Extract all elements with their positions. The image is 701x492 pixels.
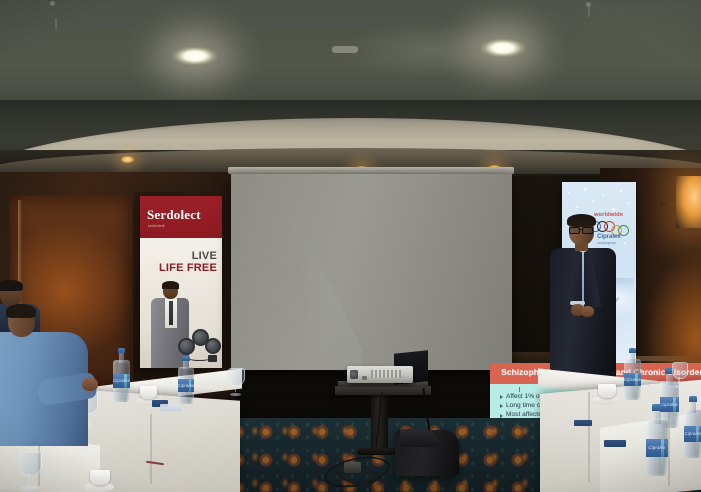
- soffit-downlight: [121, 156, 134, 163]
- linen-fold: [588, 392, 590, 482]
- bottle-label: Cipralex: [624, 373, 641, 387]
- device-plug-icon: [208, 355, 217, 362]
- bottle-cap: [182, 356, 189, 361]
- glass-foot: [21, 485, 37, 490]
- projector-vent: [371, 370, 401, 378]
- conference-room-photo: Serdolect sertindole LIVE LIFE FREE: [0, 0, 701, 492]
- banner-serdolect-subtitle: sertindole: [148, 224, 222, 228]
- coffee-cup: [90, 470, 110, 485]
- tagline-line-1: LIVE: [192, 250, 217, 262]
- bottle-cap: [118, 348, 126, 353]
- bottle-highlight: [635, 373, 638, 397]
- power-adapter: [344, 462, 361, 473]
- ceiling-vent-icon: [332, 46, 358, 53]
- ceiling-shadow: [0, 100, 701, 140]
- bottle-highlight: [673, 397, 676, 425]
- glass-stem: [235, 384, 237, 392]
- banner-serdolect-tagline: LIVE LIFE FREE: [159, 250, 217, 274]
- wine-glass: [228, 368, 243, 396]
- glass-stem: [28, 473, 30, 484]
- presenter-hand-right: [581, 306, 594, 317]
- presenter-hair: [567, 214, 596, 227]
- eyeglasses-icon: [569, 227, 594, 232]
- slide-cursor-mark: [519, 387, 520, 392]
- screen-case: [228, 167, 514, 174]
- bottle-label-text: Cipralex: [113, 378, 130, 383]
- sprinkler-icon: [50, 1, 55, 6]
- bottle-highlight: [661, 439, 665, 472]
- projector-knob: [362, 376, 367, 380]
- ceiling-light-left: [172, 46, 218, 66]
- coffee-cup: [140, 386, 157, 399]
- napkin: [574, 420, 592, 426]
- bottle-label: Cipralex: [178, 379, 194, 391]
- attendee-hair: [0, 280, 23, 291]
- wall-sconce-icon: [676, 176, 701, 228]
- bottle-cap: [689, 396, 697, 402]
- glass-bowl: [228, 368, 245, 386]
- bottle-label-text: Cipralex: [624, 377, 641, 382]
- wine-glass: [672, 362, 686, 388]
- presenter: [548, 216, 618, 384]
- water-bottle: Cipralex: [624, 348, 641, 400]
- water-bottle: Cipralex: [178, 356, 194, 404]
- water-bottle: Cipralex: [113, 348, 130, 402]
- banner-serdolect-body: LIVE LIFE FREE: [140, 238, 222, 368]
- banner-serdolect-header: Serdolect sertindole: [140, 196, 222, 238]
- projection-screen: Schizophrenia is a common and Chronic Di…: [231, 174, 512, 370]
- sprinkler-drop: [55, 18, 57, 29]
- glass-stem: [678, 377, 679, 385]
- water-bottle: Cipralex: [684, 396, 701, 458]
- banner-serdolect: Serdolect sertindole LIVE LIFE FREE: [140, 196, 222, 368]
- ceiling-light-right: [480, 38, 526, 58]
- glass-bowl: [672, 362, 688, 379]
- bottle-highlight: [696, 426, 699, 455]
- figure-hair: [162, 281, 179, 289]
- projector-table-edge: [335, 386, 431, 395]
- linen-fold: [150, 414, 152, 484]
- glass-foot: [674, 385, 684, 388]
- water-bottle: Cipralex: [646, 404, 668, 476]
- attendee-hand: [82, 378, 98, 391]
- projector-lens-icon: [350, 370, 358, 379]
- bottle-label: Cipralex: [646, 439, 668, 458]
- projector: [347, 366, 413, 383]
- banner-graphic-devices: [178, 325, 218, 359]
- coffee-cup: [598, 384, 616, 398]
- figure-tie: [169, 301, 173, 325]
- notepad: [160, 404, 182, 411]
- bottle-cap: [652, 404, 662, 411]
- bottle-highlight: [124, 374, 127, 399]
- banner-serdolect-brand: Serdolect: [147, 207, 222, 223]
- bottle-label-text: Cipralex: [178, 383, 195, 388]
- bottle-neck: [119, 351, 125, 363]
- glass-foot: [230, 393, 241, 396]
- tagline-line-2: LIFE FREE: [159, 262, 217, 274]
- napkin: [604, 440, 626, 447]
- equipment-bag-flap: [400, 429, 438, 447]
- bottle-cap: [629, 348, 637, 353]
- attendee-front-left: [0, 306, 90, 446]
- attendee-hair: [6, 304, 36, 318]
- wine-glass: [18, 452, 40, 490]
- sprinkler-drop: [588, 3, 590, 17]
- bottle-label: Cipralex: [113, 374, 130, 388]
